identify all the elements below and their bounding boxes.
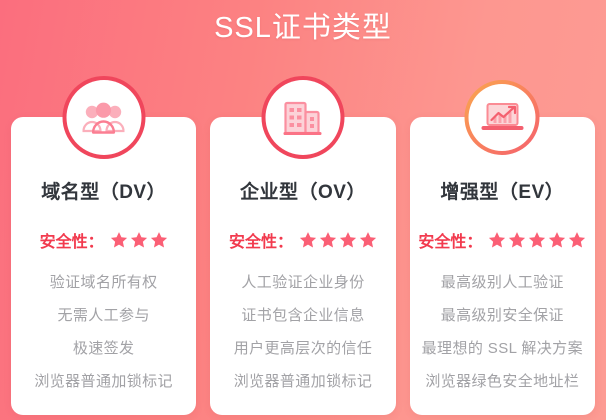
star-rating — [488, 231, 586, 249]
card-title: 域名型（DV） — [41, 177, 166, 204]
feature-item: 浏览器普通加锁标记 — [234, 365, 373, 398]
security-rating: 安全性： — [40, 228, 168, 252]
feature-item: 用户更高层次的信任 — [234, 332, 373, 365]
star-icon — [319, 231, 337, 249]
certificate-card-3[interactable]: 增强型（EV）安全性：最高级别人工验证最高级别安全保证最理想的 SSL 解决方案… — [410, 117, 595, 415]
star-icon — [150, 231, 168, 249]
star-icon — [339, 231, 357, 249]
certificate-card-2[interactable]: 企业型（OV）安全性：人工验证企业身份证书包含企业信息用户更高层次的信任浏览器普… — [210, 117, 395, 415]
feature-list: 验证域名所有权无需人工参与极速签发浏览器普通加锁标记 — [11, 266, 196, 398]
feature-item: 最高级别安全保证 — [441, 299, 564, 332]
security-rating: 安全性： — [229, 228, 377, 252]
star-rating — [299, 231, 377, 249]
security-label: 安全性： — [229, 228, 293, 252]
feature-list: 最高级别人工验证最高级别安全保证最理想的 SSL 解决方案浏览器绿色安全地址栏 — [410, 266, 595, 398]
security-label: 安全性： — [418, 228, 482, 252]
feature-item: 最理想的 SSL 解决方案 — [422, 332, 583, 365]
certificate-card-1[interactable]: 域名型（DV）安全性：验证域名所有权无需人工参与极速签发浏览器普通加锁标记 — [11, 117, 196, 415]
star-icon — [130, 231, 148, 249]
card-title: 增强型（EV） — [440, 177, 564, 204]
card-title: 企业型（OV） — [240, 177, 366, 204]
feature-item: 极速签发 — [73, 332, 135, 365]
security-label: 安全性： — [40, 228, 104, 252]
feature-item: 证书包含企业信息 — [241, 299, 364, 332]
certificate-card-list: 域名型（DV）安全性：验证域名所有权无需人工参与极速签发浏览器普通加锁标记 企业… — [11, 117, 595, 415]
star-icon — [568, 231, 586, 249]
page-title: SSL证书类型 — [0, 8, 606, 48]
feature-item: 验证域名所有权 — [50, 266, 158, 299]
feature-item: 最高级别人工验证 — [441, 266, 564, 299]
feature-list: 人工验证企业身份证书包含企业信息用户更高层次的信任浏览器普通加锁标记 — [210, 266, 395, 398]
star-icon — [508, 231, 526, 249]
feature-item: 人工验证企业身份 — [241, 266, 364, 299]
users-icon — [83, 101, 125, 135]
feature-item: 浏览器绿色安全地址栏 — [425, 365, 579, 398]
icon-badge — [265, 80, 340, 155]
star-icon — [548, 231, 566, 249]
feature-item: 浏览器普通加锁标记 — [34, 365, 173, 398]
star-icon — [110, 231, 128, 249]
feature-item: 无需人工参与 — [57, 299, 149, 332]
laptop-chart-icon — [480, 101, 524, 135]
building-icon — [283, 99, 323, 137]
star-rating — [110, 231, 168, 249]
star-icon — [528, 231, 546, 249]
icon-badge — [465, 80, 540, 155]
star-icon — [299, 231, 317, 249]
security-rating: 安全性： — [418, 228, 586, 252]
star-icon — [359, 231, 377, 249]
star-icon — [488, 231, 506, 249]
icon-badge — [66, 80, 141, 155]
